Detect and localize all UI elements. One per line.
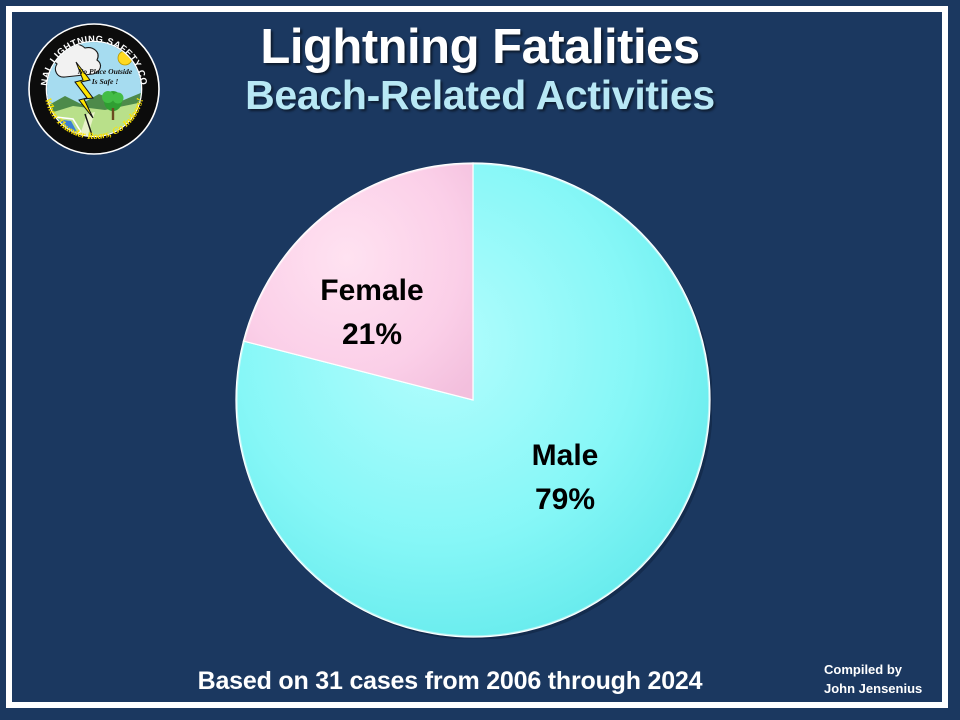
slide-canvas: No Place Outside Is Safe ! NATIONAL LIGH… [0, 0, 960, 720]
footnote-case-count: Based on 31 cases from 2006 through 2024 [30, 667, 870, 696]
title-block: Lightning Fatalities Beach-Related Activ… [170, 22, 790, 119]
page-subtitle: Beach-Related Activities [170, 73, 790, 119]
credit-line-2: John Jensenius [824, 680, 944, 699]
pie-label-male-value: 79% [420, 478, 710, 522]
pie-chart-svg [234, 161, 712, 639]
pie-label-female: Female 21% [234, 269, 510, 356]
credit-line-1: Compiled by [824, 661, 944, 680]
seal-inner-caption-line1: No Place Outside [77, 67, 133, 76]
credit-block: Compiled by John Jensenius [824, 661, 944, 699]
pie-label-male-name: Male [420, 434, 710, 478]
pie-label-male: Male 79% [420, 434, 710, 521]
pie-label-female-name: Female [234, 269, 510, 313]
page-title: Lightning Fatalities [170, 22, 790, 73]
pie-chart: Female 21% Male 79% [234, 161, 712, 639]
pie-label-female-value: 21% [234, 313, 510, 357]
seal-icon: No Place Outside Is Safe ! NATIONAL LIGH… [27, 22, 161, 156]
seal-inner-caption-line2: Is Safe ! [91, 77, 119, 86]
organization-logo: No Place Outside Is Safe ! NATIONAL LIGH… [27, 22, 161, 156]
